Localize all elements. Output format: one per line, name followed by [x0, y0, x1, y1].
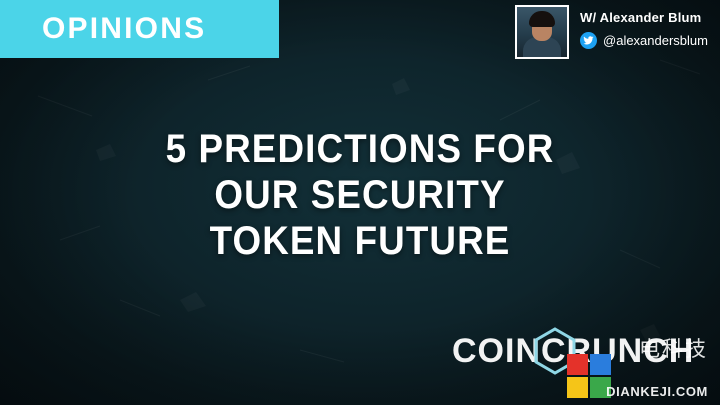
- watermark: 电科技 DIANKEJI.COM: [564, 329, 714, 403]
- avatar: [515, 5, 569, 59]
- video-frame: OPINIONS W/ Alexander Blum @alexandersbl…: [0, 0, 720, 405]
- headline-line-3: TOKEN FUTURE: [29, 218, 691, 264]
- headline-line-1: 5 PREDICTIONS FOR: [29, 126, 691, 172]
- watermark-logo-icon: [566, 353, 612, 399]
- avatar-hair: [529, 11, 555, 27]
- watermark-chinese-text: 电科技: [639, 333, 708, 363]
- headline-line-2: OUR SECURITY: [29, 172, 691, 218]
- twitter-icon: [580, 32, 597, 49]
- host-handle: @alexandersblum: [603, 33, 708, 48]
- host-handle-row: @alexandersblum: [580, 32, 708, 49]
- watermark-latin-text: DIANKEJI.COM: [606, 384, 708, 399]
- opinions-badge: OPINIONS: [0, 0, 279, 58]
- host-name: W/ Alexander Blum: [580, 10, 708, 25]
- host-text-block: W/ Alexander Blum @alexandersblum: [580, 5, 708, 49]
- host-card: W/ Alexander Blum @alexandersblum: [515, 5, 708, 59]
- opinions-label: OPINIONS: [42, 12, 206, 46]
- headline: 5 PREDICTIONS FOR OUR SECURITY TOKEN FUT…: [29, 126, 691, 264]
